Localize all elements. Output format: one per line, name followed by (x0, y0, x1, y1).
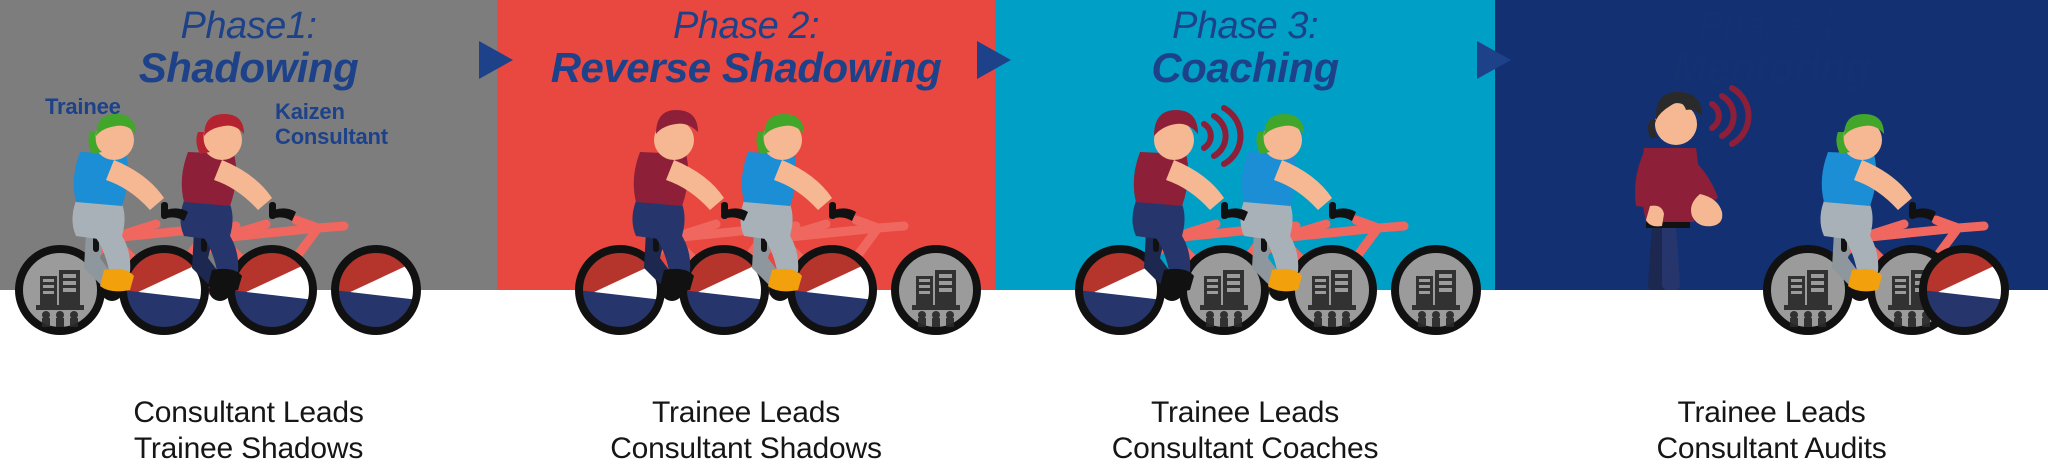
phase-2-title-line2: Reverse Shadowing (497, 46, 995, 91)
trainee-label: Trainee (45, 95, 121, 120)
phase-1-title: Phase1: Shadowing (0, 6, 497, 91)
infographic-canvas: Phase1: Shadowing Trainee Kaizen Consult… (0, 0, 2048, 473)
phase-2-title: Phase 2: Reverse Shadowing (497, 6, 995, 91)
arrow-phase3-to-phase4 (1477, 41, 1511, 79)
phase-2-title-line1: Phase 2: (497, 6, 995, 46)
phase-3-caption: Trainee Leads Consultant Coaches (995, 395, 1495, 467)
phase-3-panel: Phase 3: Coaching Trainee Leads Consulta… (995, 0, 1495, 473)
phase-4-title-line1: Phase 4: (1495, 6, 2048, 46)
kaizen-consultant-label: Kaizen Consultant (275, 100, 388, 149)
phase-2-caption: Trainee Leads Consultant Shadows (497, 395, 995, 467)
phase-3-title: Phase 3: Coaching (995, 6, 1495, 91)
phase-4-caption: Trainee Leads Consultant Audits (1495, 395, 2048, 467)
phase-1-caption: Consultant Leads Trainee Shadows (0, 395, 497, 467)
arrow-phase2-to-phase3 (977, 41, 1011, 79)
phase-4-title: Phase 4: Mentoring (1495, 6, 2048, 91)
phase-4-title-line2: Mentoring (1495, 46, 2048, 91)
phase-1-title-line1: Phase1: (0, 6, 497, 46)
phase-3-title-line1: Phase 3: (995, 6, 1495, 46)
phase-2-panel: Phase 2: Reverse Shadowing Trainee Leads… (497, 0, 995, 473)
arrow-phase1-to-phase2 (479, 41, 513, 79)
phase-4-panel: Phase 4: Mentoring Trainee Leads Consult… (1495, 0, 2048, 473)
phase-3-title-line2: Coaching (995, 46, 1495, 91)
phase-1-title-line2: Shadowing (0, 46, 497, 91)
phase-1-panel: Phase1: Shadowing Trainee Kaizen Consult… (0, 0, 497, 473)
